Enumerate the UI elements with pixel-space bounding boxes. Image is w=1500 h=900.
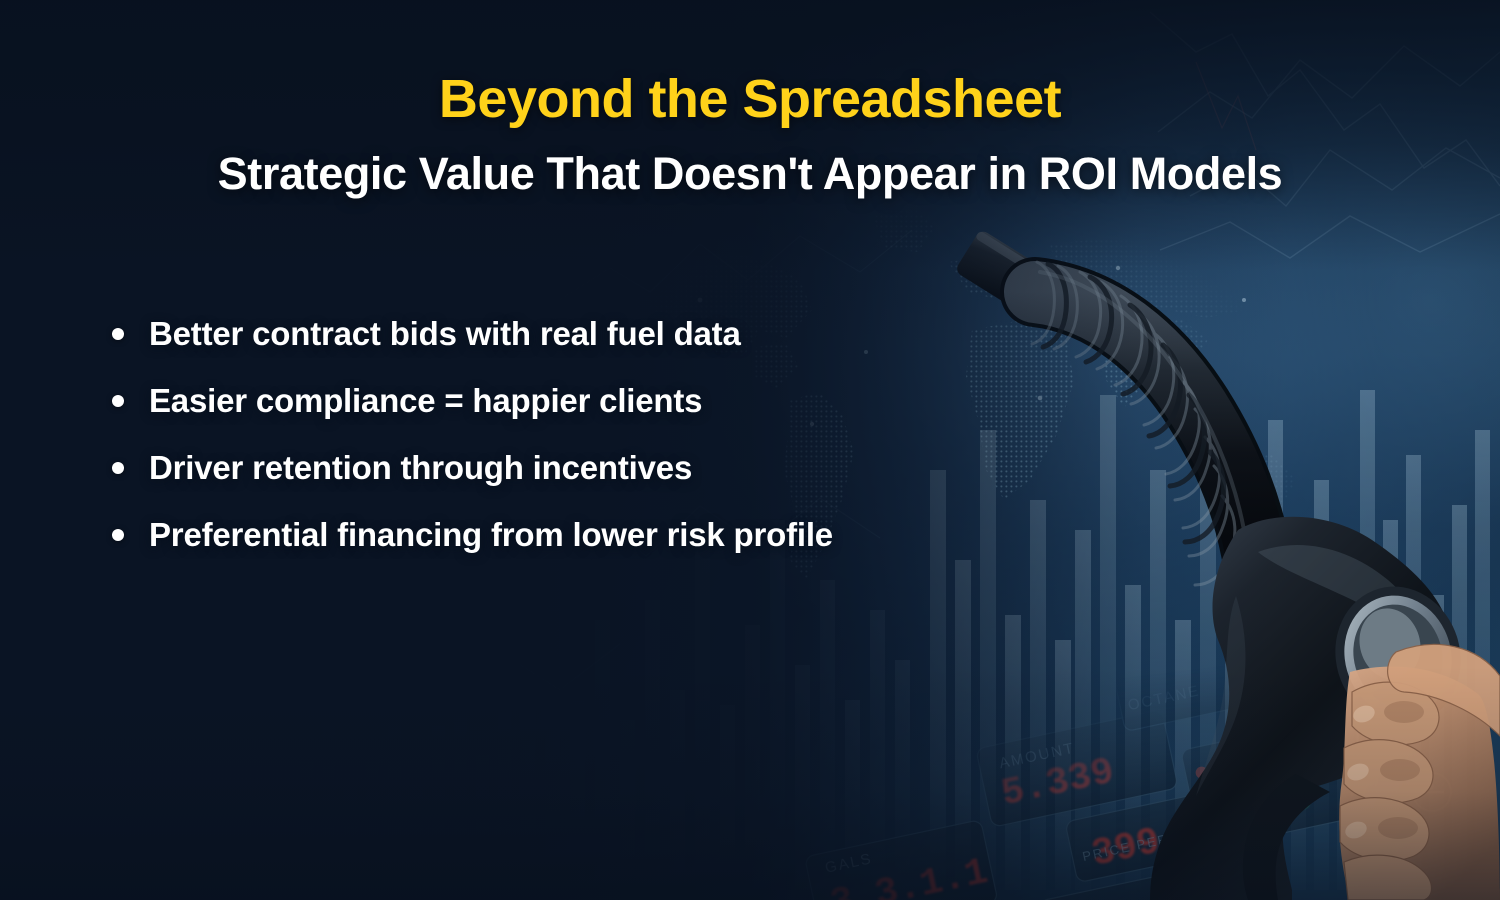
list-item: Better contract bids with real fuel data bbox=[112, 300, 833, 367]
list-item-label: Driver retention through incentives bbox=[149, 449, 692, 487]
list-item-label: Preferential financing from lower risk p… bbox=[149, 516, 833, 554]
bullet-dot-icon bbox=[112, 395, 124, 407]
list-item-label: Easier compliance = happier clients bbox=[149, 382, 702, 420]
benefit-list: Better contract bids with real fuel data… bbox=[112, 300, 833, 568]
slide-headline: Beyond the Spreadsheet bbox=[0, 68, 1500, 130]
list-item: Preferential financing from lower risk p… bbox=[112, 501, 833, 568]
slide-subheadline: Strategic Value That Doesn't Appear in R… bbox=[0, 148, 1500, 200]
slide-canvas: 100 80 60 bbox=[0, 0, 1500, 900]
bullet-dot-icon bbox=[112, 462, 124, 474]
bullet-dot-icon bbox=[112, 529, 124, 541]
slide-content: Beyond the Spreadsheet Strategic Value T… bbox=[0, 0, 1500, 900]
list-item: Driver retention through incentives bbox=[112, 434, 833, 501]
list-item: Easier compliance = happier clients bbox=[112, 367, 833, 434]
bullet-dot-icon bbox=[112, 328, 124, 340]
list-item-label: Better contract bids with real fuel data bbox=[149, 315, 741, 353]
